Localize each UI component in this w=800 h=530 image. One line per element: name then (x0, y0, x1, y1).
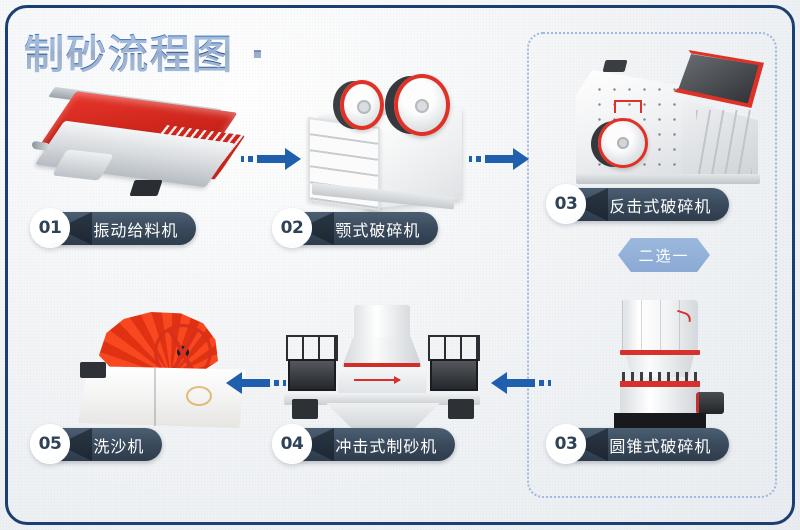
arrow-shaft (257, 155, 287, 163)
washer-motor (80, 362, 106, 378)
vsi-cabinet-left (288, 359, 336, 391)
page-title: 制砂流程图 · (24, 22, 267, 80)
vsi-support-legs (326, 403, 440, 430)
arrow-shaft (485, 155, 515, 163)
impact-rotor-hub (617, 137, 629, 149)
vsi-motor-left (292, 399, 318, 419)
vsi-cabinet-right (430, 359, 478, 391)
step-label-text: 洗沙机 (93, 433, 144, 457)
washer-brand-logo (186, 386, 212, 406)
vsi-platform-right (428, 335, 480, 393)
vibrating-feeder-image (24, 96, 244, 206)
arrow-head (491, 372, 507, 394)
arrow-trail-dot (248, 156, 253, 162)
step-number-badge: 03 (546, 184, 586, 224)
step-label-text: 振动给料机 (93, 217, 178, 241)
cone-drive-motor (696, 392, 724, 414)
arrow-trail-dot (241, 156, 244, 162)
impact-chamber-ribs (696, 110, 752, 176)
impact-rotor-wheel (598, 118, 648, 168)
impact-red-bracket (614, 100, 642, 113)
arrow-head (285, 148, 301, 170)
vsi-top-drum (354, 305, 410, 339)
arrow-trail-dot (274, 380, 279, 386)
arrow-cone-to-vsi (489, 372, 551, 394)
arrow-trail-dot (476, 156, 481, 162)
impact-base (576, 174, 760, 184)
step-number-badge: 04 (272, 424, 312, 464)
arrow-feeder-to-jaw (241, 148, 303, 170)
feeder-spring (32, 141, 50, 152)
cone-red-band-upper (620, 350, 700, 355)
impact-crusher-image (570, 48, 770, 188)
arrow-trail-dot (539, 380, 544, 386)
arrow-vsi-to-washer (224, 372, 286, 394)
feeder-support-leg (129, 180, 162, 196)
impact-top-box (603, 60, 628, 72)
arrow-trail-dot (548, 380, 551, 386)
arrow-head (513, 148, 529, 170)
vsi-red-arrow-decal (354, 375, 404, 385)
cone-crusher-image (600, 300, 730, 445)
arrow-jaw-to-impact (469, 148, 531, 170)
vsi-motor-right (448, 399, 474, 419)
jaw-flywheel-front (394, 74, 450, 136)
arrow-shaft (505, 379, 535, 387)
vsi-railing-right (428, 335, 480, 361)
jaw-crusher-image (302, 68, 472, 210)
jaw-flywheel-rear (340, 80, 384, 130)
step-label-text: 反击式破碎机 (609, 193, 711, 217)
vsi-sand-maker-image (282, 305, 482, 430)
choose-one-of-two-badge: 二选一 (618, 238, 710, 272)
vsi-railing-left (286, 335, 338, 361)
washer-tank-seam (154, 368, 156, 426)
cone-drum-seams (622, 300, 698, 350)
step-label-text: 颚式破碎机 (335, 217, 420, 241)
step-label-text: 冲击式制砂机 (335, 433, 437, 457)
step-label-text: 圆锥式破碎机 (609, 433, 711, 457)
arrow-shaft (240, 379, 270, 387)
flowchart-page: 制砂流程图 · (0, 0, 800, 530)
cone-mid-housing (620, 387, 700, 417)
step-number-badge: 02 (272, 208, 312, 248)
step-number-badge: 03 (546, 424, 586, 464)
arrow-trail-dot (283, 380, 286, 386)
jaw-flywheel-hub (415, 99, 429, 113)
step-number-badge: 05 (30, 424, 70, 464)
jaw-flywheel-hub (357, 100, 371, 114)
step-number-badge: 01 (30, 208, 70, 248)
arrow-head (226, 372, 242, 394)
arrow-trail-dot (469, 156, 472, 162)
vsi-platform-left (286, 335, 338, 393)
